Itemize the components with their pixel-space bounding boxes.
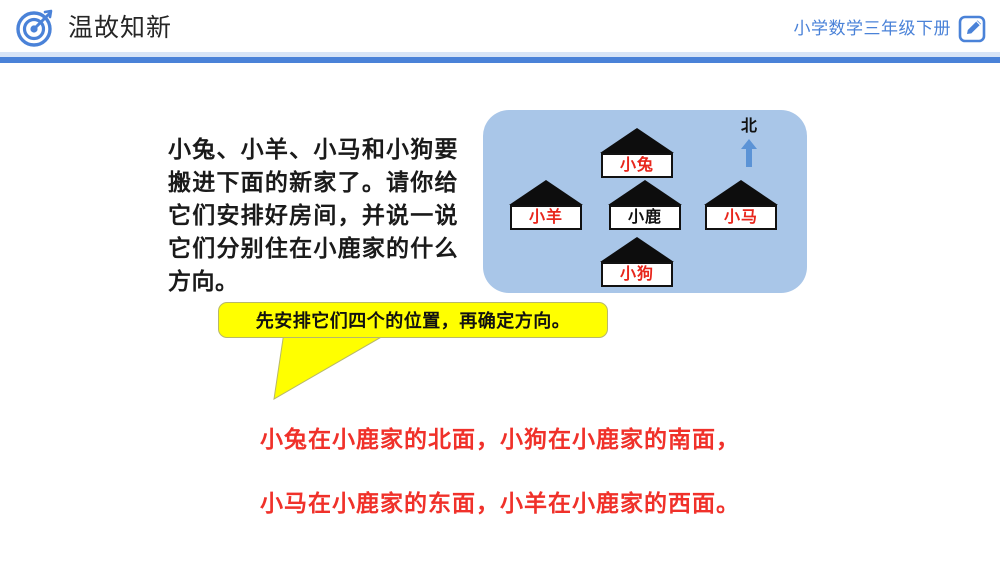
- house-label-deer: 小鹿: [628, 210, 662, 226]
- course-label: 小学数学三年级下册: [794, 14, 952, 44]
- hint-bubble: 先安排它们四个的位置，再确定方向。: [218, 302, 608, 338]
- house-body: 小鹿: [609, 205, 681, 230]
- village-map-panel: 北 小兔 小羊 小鹿: [483, 110, 807, 293]
- compass-north: 北: [731, 118, 767, 168]
- header-meta: 小学数学三年级下册: [794, 14, 987, 44]
- house-label-horse: 小马: [724, 210, 758, 226]
- header-brand: 温故知新: [16, 8, 172, 48]
- house-label-sheep: 小羊: [529, 210, 563, 226]
- hint-callout: 先安排它们四个的位置，再确定方向。: [218, 302, 610, 402]
- house-rabbit[interactable]: 小兔: [600, 128, 674, 178]
- house-body: 小马: [705, 205, 777, 230]
- house-body: 小兔: [601, 153, 673, 178]
- house-label-rabbit: 小兔: [620, 158, 654, 174]
- answer-line-1: 小兔在小鹿家的北面，小狗在小鹿家的南面，: [0, 424, 1000, 454]
- house-sheep[interactable]: 小羊: [509, 180, 583, 230]
- answer-line-2: 小马在小鹿家的东面，小羊在小鹿家的西面。: [0, 488, 1000, 518]
- slide-header: 温故知新 小学数学三年级下册: [0, 0, 1000, 58]
- house-roof-icon: [704, 180, 778, 205]
- house-horse[interactable]: 小马: [704, 180, 778, 230]
- house-body: 小羊: [510, 205, 582, 230]
- answer-block: 小兔在小鹿家的北面，小狗在小鹿家的南面， 小马在小鹿家的东面，小羊在小鹿家的西面…: [0, 424, 1000, 518]
- header-divider: [0, 57, 1000, 63]
- house-deer[interactable]: 小鹿: [608, 180, 682, 230]
- house-roof-icon: [608, 180, 682, 205]
- slide-canvas: 温故知新 小学数学三年级下册 小兔、小羊、小马和小狗要搬进下面的新家了。请你给它…: [0, 0, 1000, 563]
- question-paragraph: 小兔、小羊、小马和小狗要搬进下面的新家了。请你给它们安排好房间，并说一说它们分别…: [168, 133, 458, 298]
- target-icon: [16, 8, 56, 48]
- page-title: 温故知新: [68, 8, 172, 48]
- pencil-edit-icon[interactable]: [958, 15, 986, 43]
- house-roof-icon: [600, 128, 674, 153]
- compass-label: 北: [731, 118, 767, 136]
- house-roof-icon: [600, 237, 674, 262]
- hint-text: 先安排它们四个的位置，再确定方向。: [256, 307, 571, 333]
- house-roof-icon: [509, 180, 583, 205]
- house-label-dog: 小狗: [620, 267, 654, 283]
- house-dog[interactable]: 小狗: [600, 237, 674, 287]
- house-body: 小狗: [601, 262, 673, 287]
- north-arrow-icon: [731, 138, 767, 168]
